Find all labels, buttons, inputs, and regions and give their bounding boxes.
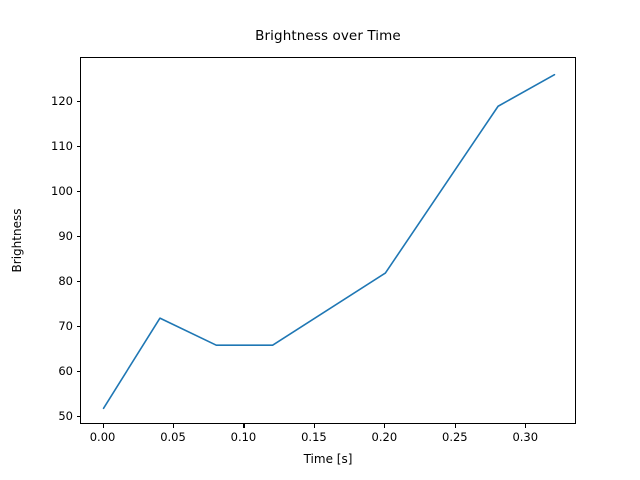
y-tick-mark [77, 146, 81, 147]
x-tick-mark [243, 424, 244, 428]
y-tick-label: 110 [40, 139, 73, 153]
x-tick-mark [384, 424, 385, 428]
y-tick-mark [77, 191, 81, 192]
x-tick-mark [455, 424, 456, 428]
y-tick-label: 90 [40, 229, 73, 243]
x-tick-label: 0.05 [160, 430, 186, 444]
y-tick-label: 50 [40, 409, 73, 423]
plot-area [80, 57, 576, 424]
x-tick-label: 0.15 [301, 430, 327, 444]
matplotlib-figure: Brightness over Time 5060708090100110120… [0, 0, 640, 480]
y-axis-label: Brightness [10, 57, 30, 424]
x-axis-label: Time [s] [80, 452, 576, 466]
x-tick-mark [314, 424, 315, 428]
y-tick-mark [77, 101, 81, 102]
y-tick-mark [77, 326, 81, 327]
x-tick-mark [103, 424, 104, 428]
data-series-line [104, 75, 555, 409]
y-tick-mark [77, 236, 81, 237]
x-tick-label: 0.10 [231, 430, 257, 444]
x-tick-mark [173, 424, 174, 428]
y-tick-label: 60 [40, 364, 73, 378]
y-tick-mark [77, 281, 81, 282]
line-chart-svg [81, 58, 577, 425]
x-tick-label: 0.20 [372, 430, 398, 444]
x-tick-label: 0.00 [90, 430, 116, 444]
x-tick-mark [525, 424, 526, 428]
x-tick-label: 0.30 [512, 430, 538, 444]
page-title: Brightness over Time [80, 28, 576, 44]
y-tick-label: 120 [40, 94, 73, 108]
x-tick-label: 0.25 [442, 430, 468, 444]
y-tick-mark [77, 416, 81, 417]
y-tick-mark [77, 371, 81, 372]
y-tick-label: 80 [40, 274, 73, 288]
y-tick-label: 70 [40, 319, 73, 333]
y-tick-label: 100 [40, 184, 73, 198]
